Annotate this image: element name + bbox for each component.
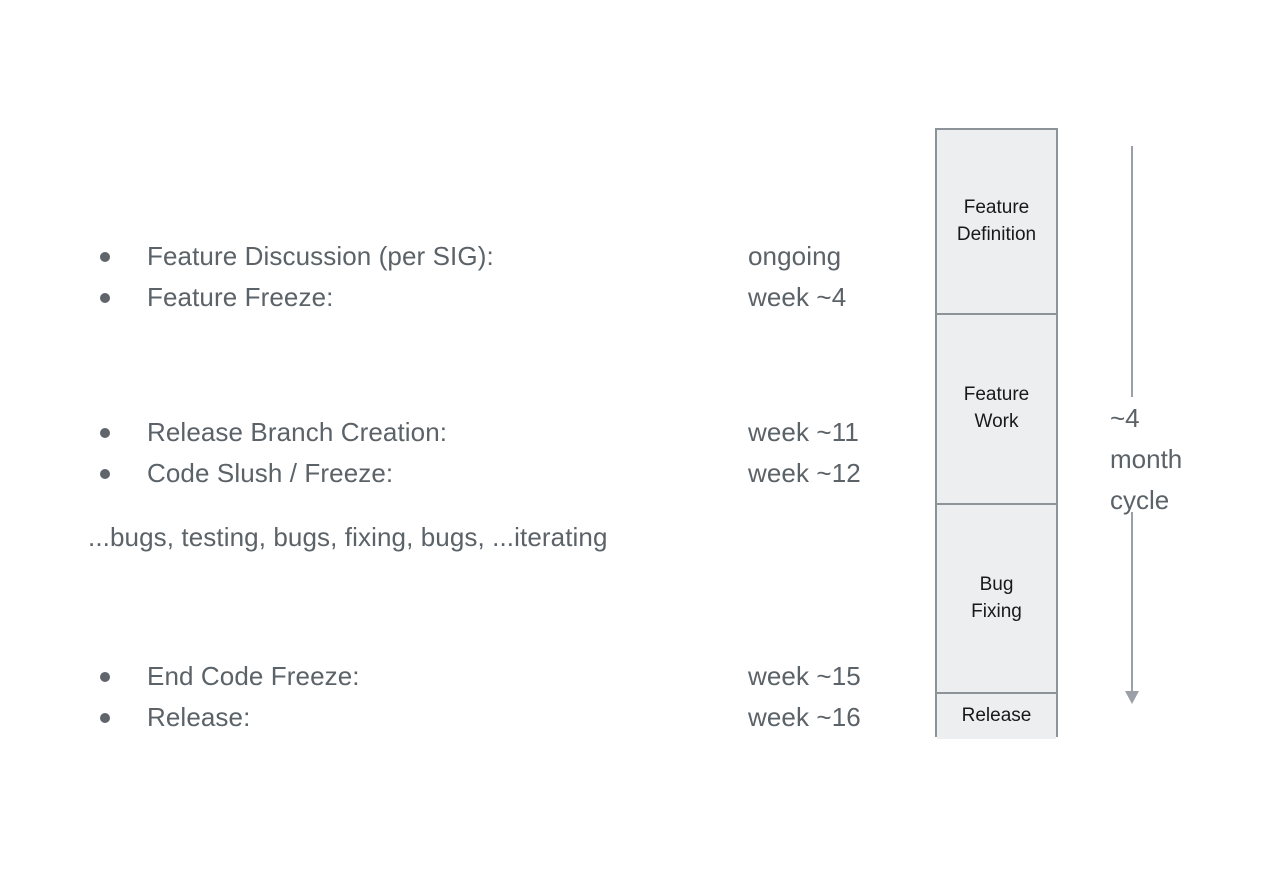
milestone-group-definition: Feature Discussion (per SIG): ongoing Fe… bbox=[0, 236, 900, 318]
milestone-value: week ~11 bbox=[748, 412, 859, 453]
milestone-label: Feature Discussion (per SIG): bbox=[147, 236, 494, 277]
bullet-dot-icon bbox=[100, 428, 110, 438]
arrow-head-down-icon bbox=[1125, 691, 1139, 704]
bullet-dot-icon bbox=[100, 713, 110, 723]
bullet-dot-icon bbox=[100, 293, 110, 303]
arrow-line-bottom bbox=[1131, 512, 1133, 693]
bullet-dot-icon bbox=[100, 469, 110, 479]
cycle-duration-arrow: ~4 month cycle bbox=[1088, 140, 1238, 720]
milestone-row: End Code Freeze: week ~15 bbox=[0, 656, 900, 697]
milestone-group-end: End Code Freeze: week ~15 Release: week … bbox=[0, 656, 900, 738]
phase-cell-label-line2: Work bbox=[975, 411, 1019, 432]
milestone-value: week ~12 bbox=[748, 453, 861, 494]
milestone-label: End Code Freeze: bbox=[147, 656, 360, 697]
phase-cell-feature-definition: Feature Definition bbox=[937, 130, 1056, 315]
milestone-label: Release Branch Creation: bbox=[147, 412, 447, 453]
milestone-label: Code Slush / Freeze: bbox=[147, 453, 393, 494]
milestone-value: week ~4 bbox=[748, 277, 846, 318]
cycle-label-line1: ~4 bbox=[1110, 398, 1182, 439]
phase-cell-label: Release bbox=[958, 703, 1036, 730]
milestone-label: Feature Freeze: bbox=[147, 277, 333, 318]
iterating-note: ...bugs, testing, bugs, fixing, bugs, ..… bbox=[88, 522, 608, 553]
bullet-dot-icon bbox=[100, 672, 110, 682]
milestone-value: week ~15 bbox=[748, 656, 861, 697]
phase-column: Feature Definition Feature Work Bug Fixi… bbox=[935, 128, 1058, 737]
milestone-group-branch: Release Branch Creation: week ~11 Code S… bbox=[0, 412, 900, 494]
milestone-row: Feature Freeze: week ~4 bbox=[0, 277, 900, 318]
phase-cell-bug-fixing: Bug Fixing bbox=[937, 505, 1056, 694]
cycle-label-line2: month bbox=[1110, 439, 1182, 480]
milestone-row: Release Branch Creation: week ~11 bbox=[0, 412, 900, 453]
milestone-row: Feature Discussion (per SIG): ongoing bbox=[0, 236, 900, 277]
cycle-duration-label: ~4 month cycle bbox=[1110, 398, 1182, 521]
phase-cell-feature-work: Feature Work bbox=[937, 315, 1056, 505]
phase-cell-label-line1: Bug bbox=[980, 574, 1014, 595]
phase-cell-label-line1: Feature bbox=[964, 197, 1029, 218]
phase-cell-label-line1: Feature bbox=[964, 384, 1029, 405]
phase-cell-label: Feature Definition bbox=[953, 195, 1040, 249]
phase-cell-release: Release bbox=[937, 694, 1056, 739]
slide-canvas: Feature Discussion (per SIG): ongoing Fe… bbox=[0, 0, 1280, 895]
arrow-line-top bbox=[1131, 146, 1133, 397]
milestone-value: week ~16 bbox=[748, 697, 861, 738]
phase-cell-label: Bug Fixing bbox=[967, 572, 1026, 626]
bullet-dot-icon bbox=[100, 252, 110, 262]
milestone-label: Release: bbox=[147, 697, 250, 738]
milestone-row: Release: week ~16 bbox=[0, 697, 900, 738]
phase-cell-label: Feature Work bbox=[960, 382, 1033, 436]
phase-cell-label-line2: Definition bbox=[957, 224, 1036, 245]
milestone-value: ongoing bbox=[748, 236, 841, 277]
cycle-label-line3: cycle bbox=[1110, 480, 1182, 521]
milestone-row: Code Slush / Freeze: week ~12 bbox=[0, 453, 900, 494]
phase-cell-label-line2: Fixing bbox=[971, 601, 1022, 622]
